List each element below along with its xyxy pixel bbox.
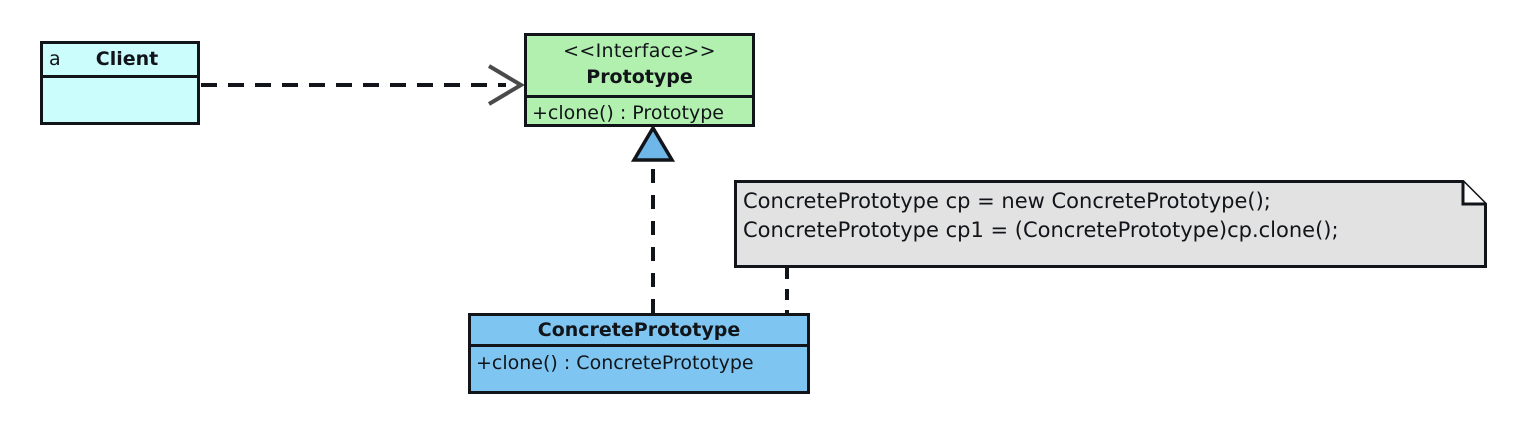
dependency-client-to-prototype <box>201 66 521 104</box>
client-header: a Client <box>43 44 197 75</box>
prototype-class-name: Prototype <box>527 64 752 90</box>
realization-hollow-triangle <box>634 128 672 160</box>
class-box-concrete-prototype[interactable]: ConcretePrototype +clone() : ConcretePro… <box>468 313 810 394</box>
realization-concrete-to-prototype <box>634 128 672 313</box>
uml-diagram-canvas: a Client <<Interface>> Prototype +clone(… <box>0 0 1526 424</box>
concrete-prototype-class-name: ConcretePrototype <box>471 316 807 344</box>
dependency-open-arrowhead <box>489 66 521 104</box>
note-fold-corner-path <box>1463 182 1486 205</box>
note-comment-box[interactable]: ConcretePrototype cp = new ConcreteProto… <box>734 180 1487 268</box>
concrete-prototype-operation-clone: +clone() : ConcretePrototype <box>471 347 807 380</box>
note-line-2: ConcretePrototype cp1 = (ConcretePrototy… <box>743 216 1457 245</box>
client-members-compartment <box>43 75 197 122</box>
concrete-prototype-header: ConcretePrototype <box>471 316 807 344</box>
prototype-operation-clone: +clone() : Prototype <box>527 98 752 128</box>
prototype-stereotype-label: <<Interface>> <box>527 39 752 64</box>
prototype-operations-compartment: +clone() : Prototype <box>527 95 752 127</box>
prototype-header: <<Interface>> Prototype <box>527 36 752 95</box>
class-box-client[interactable]: a Client <box>40 41 200 125</box>
note-line-1: ConcretePrototype cp = new ConcreteProto… <box>743 187 1457 216</box>
class-box-prototype[interactable]: <<Interface>> Prototype +clone() : Proto… <box>524 33 755 127</box>
concrete-prototype-operations-compartment: +clone() : ConcretePrototype <box>471 344 807 394</box>
client-class-name: Client <box>43 44 197 75</box>
note-text-content: ConcretePrototype cp = new ConcreteProto… <box>743 187 1457 245</box>
